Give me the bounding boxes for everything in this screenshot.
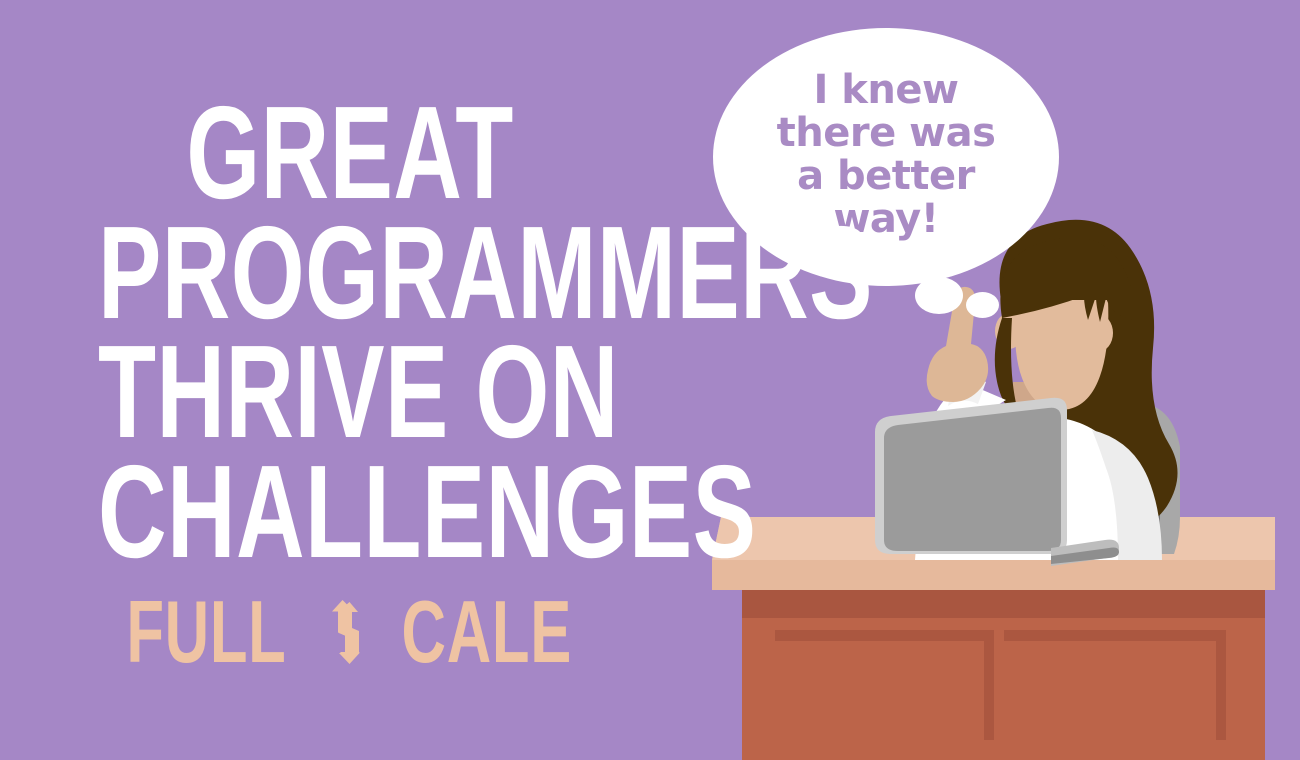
headline: GREAT PROGRAMMERS THRIVE ON CHALLENGES [0,96,700,568]
poster-canvas: I knew there was a better way! GREAT PRO… [0,0,1300,760]
brand-word-full: FULL [126,588,286,676]
headline-line-3: THRIVE ON [98,335,602,449]
brand-word-scale-tail: CALE [401,588,571,676]
thought-bubble-dot-large [915,277,963,314]
headline-line-4: CHALLENGES [98,455,602,569]
headline-line-2: PROGRAMMERS [98,216,602,330]
headline-line-1: GREAT [98,96,602,210]
full-scale-s-logo-icon [328,598,364,666]
laptop-lid [884,408,1061,551]
brand-lockup: FULL CALE [0,588,700,668]
thought-bubble-dot-small [966,292,999,318]
